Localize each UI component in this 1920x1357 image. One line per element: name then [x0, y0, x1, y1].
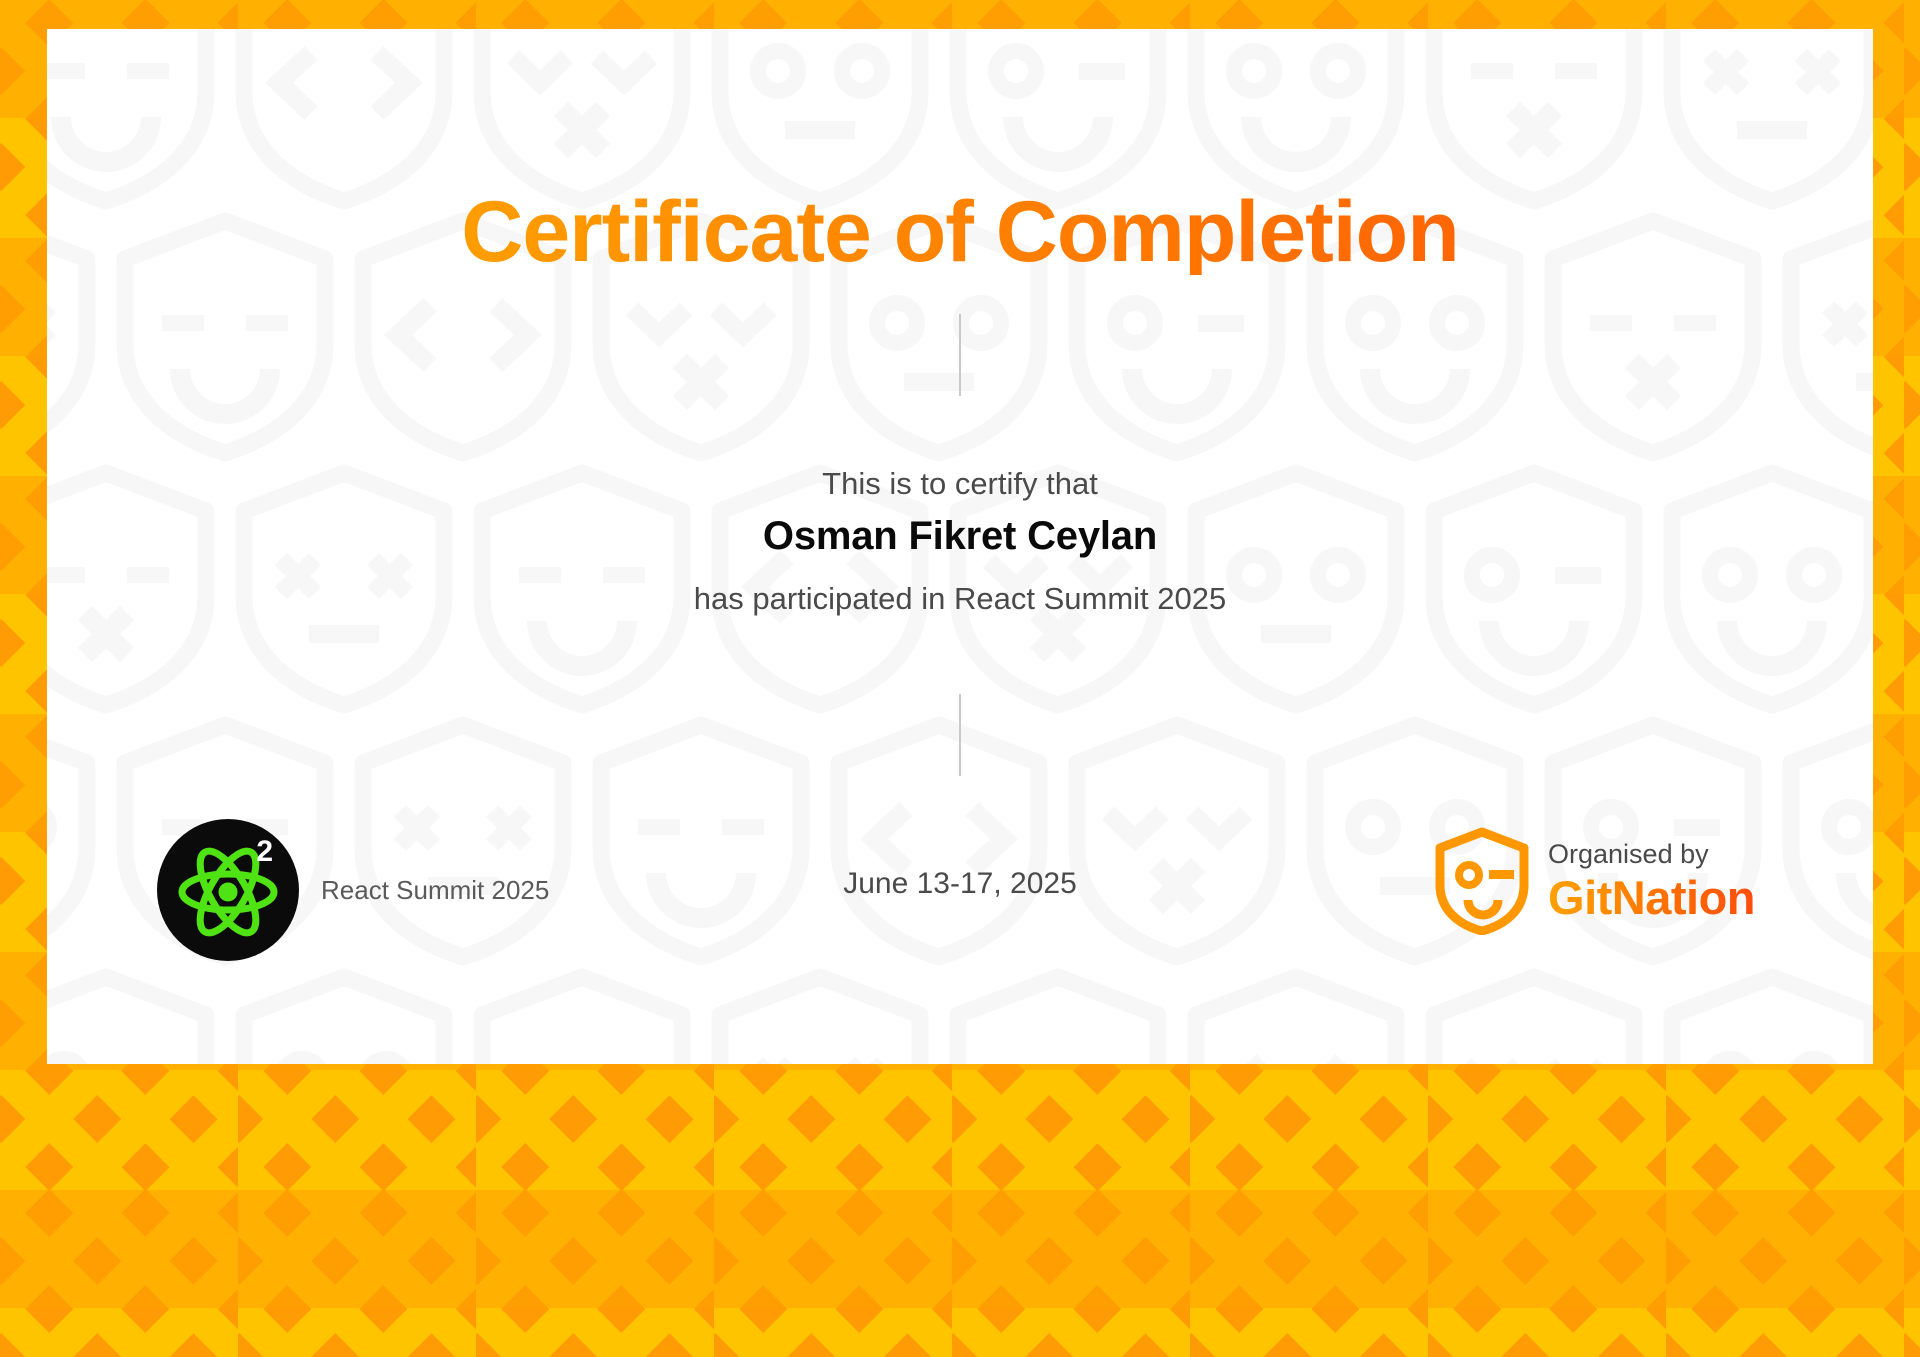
organised-by-label: Organised by [1548, 841, 1755, 868]
divider-top [959, 314, 961, 396]
certify-statement: This is to certify that [47, 466, 1873, 502]
recipient-name: Osman Fikret Ceylan [47, 514, 1873, 559]
certificate-content: Certificate of Completion This is to cer… [47, 29, 1873, 1064]
react-logo-superscript: 2 [256, 837, 273, 867]
page-title: Certificate of Completion [47, 189, 1873, 275]
participation-statement: has participated in React Summit 2025 [47, 581, 1873, 617]
certificate-card: Certificate of Completion This is to cer… [47, 29, 1873, 1064]
divider-bottom [959, 694, 961, 776]
certificate: Certificate of Completion This is to cer… [0, 0, 1920, 1357]
gitnation-shield-icon [1434, 827, 1530, 935]
certificate-footer: 2 React Summit 2025 June 13-17, 2025 Org… [47, 819, 1873, 979]
organiser-block: Organised by GitNation [1434, 827, 1755, 935]
gitnation-wordmark: GitNation [1548, 874, 1755, 921]
organiser-text: Organised by GitNation [1548, 841, 1755, 921]
